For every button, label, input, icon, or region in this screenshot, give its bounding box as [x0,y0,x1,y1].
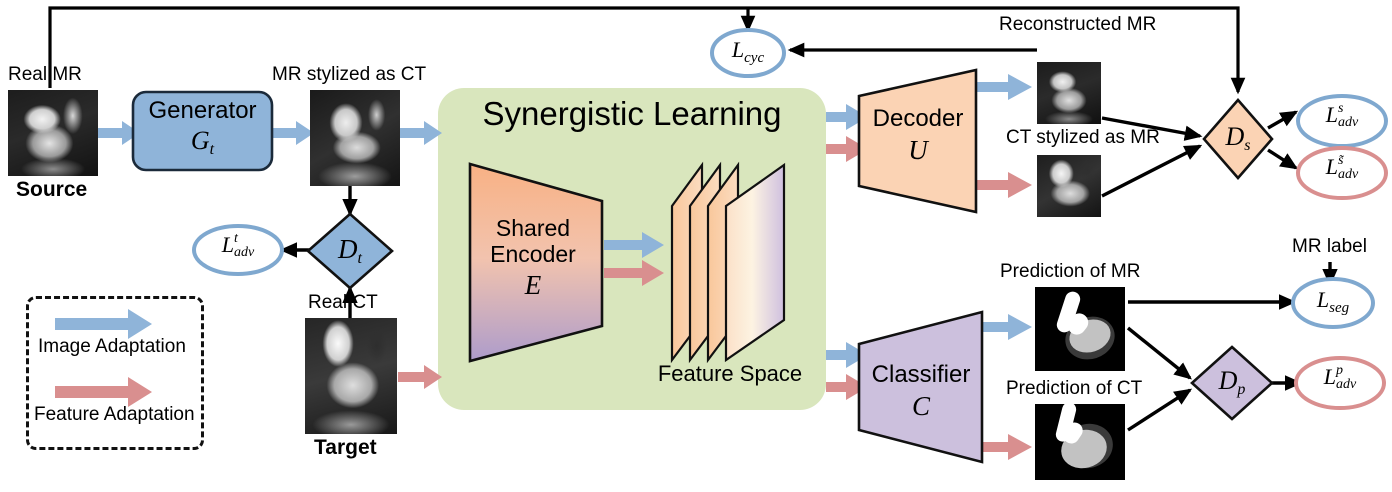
decoder-name: Decoder [860,106,976,133]
label-real-ct: Real CT [308,292,378,314]
scan-mr-stylized-as-ct [310,90,400,186]
label-prediction-of-mr: Prediction of MR [1000,261,1140,283]
decoder-symbol: U [860,135,976,165]
discriminator-dt-label: Dt [310,234,390,268]
encoder-symbol: E [470,270,596,300]
label-source: Source [16,178,87,202]
legend-label-feature-adaptation: Feature Adaptation [34,404,195,426]
generator-label: Generator Gt [133,98,272,159]
label-ct-stylized-as-mr: CT stylized as MR [1006,127,1160,149]
classifier-label: Classifier C [860,362,982,421]
legend-label-image-adaptation: Image Adaptation [38,336,186,358]
synergistic-learning-title-text: Synergistic Learning [483,95,782,132]
encoder-name-line2: Encoder [470,242,596,268]
arrow-ds-to-ladvs [1268,112,1296,128]
loss-ladvstilde-label: L s̃ adv [1300,154,1384,182]
flow-arrow-classifier-to-predct [982,434,1032,460]
seg-prediction-of-mr [1035,287,1125,371]
scan-reconstructed-mr [1037,62,1101,124]
arrow-ctstylized-to-ds [1102,146,1200,196]
flow-arrow-ct-to-panel [398,365,442,389]
diagram-canvas: Real MR Source MR stylized as CT Real CT… [0,0,1392,492]
generator-name: Generator [133,98,272,125]
arrow-predmr-to-dp [1128,328,1190,378]
arrow-ds-to-ladvstilde [1268,150,1296,168]
scan-real-ct [305,318,397,434]
label-real-mr: Real MR [8,64,82,86]
classifier-symbol: C [860,391,982,421]
feature-space-stack [672,165,784,360]
discriminator-dp-label: Dp [1196,366,1268,399]
legend-box [26,296,204,450]
flow-arrow-decoder-to-ctstylized [976,172,1032,198]
decoder-label: Decoder U [860,106,976,165]
label-prediction-of-ct: Prediction of CT [1006,378,1142,400]
label-target: Target [314,436,377,460]
flow-arrow-classifier-to-predmr [982,314,1032,340]
loss-lseg-label: Lseg [1297,288,1369,317]
scan-ct-stylized-as-mr [1037,155,1101,217]
label-mr-stylized-as-ct: MR stylized as CT [272,64,426,86]
generator-symbol: Gt [133,126,272,159]
label-mr-label: MR label [1292,236,1367,258]
classifier-name: Classifier [860,362,982,389]
flow-arrow-stylized-to-panel [400,121,442,145]
loss-lcyc-label: Lcyc [712,38,784,67]
flow-arrow-generator-to-stylized [272,121,314,145]
feature-space-label: Feature Space [650,362,810,387]
flow-arrow-decoder-to-recon [976,74,1032,100]
scan-real-mr [8,90,98,176]
seg-prediction-of-ct [1035,404,1125,480]
encoder-name-line1: Shared [470,216,596,242]
shared-encoder-label: Shared Encoder E [470,216,596,300]
loss-ladvs-label: L s adv [1300,102,1384,130]
feature-space-label-text: Feature Space [658,361,802,386]
loss-ladvt-label: L t adv [196,232,280,260]
label-reconstructed-mr: Reconstructed MR [999,14,1156,36]
loss-ladvp-label: L p adv [1298,364,1382,392]
discriminator-ds-label: Ds [1206,122,1270,155]
synergistic-learning-title: Synergistic Learning [438,96,826,133]
